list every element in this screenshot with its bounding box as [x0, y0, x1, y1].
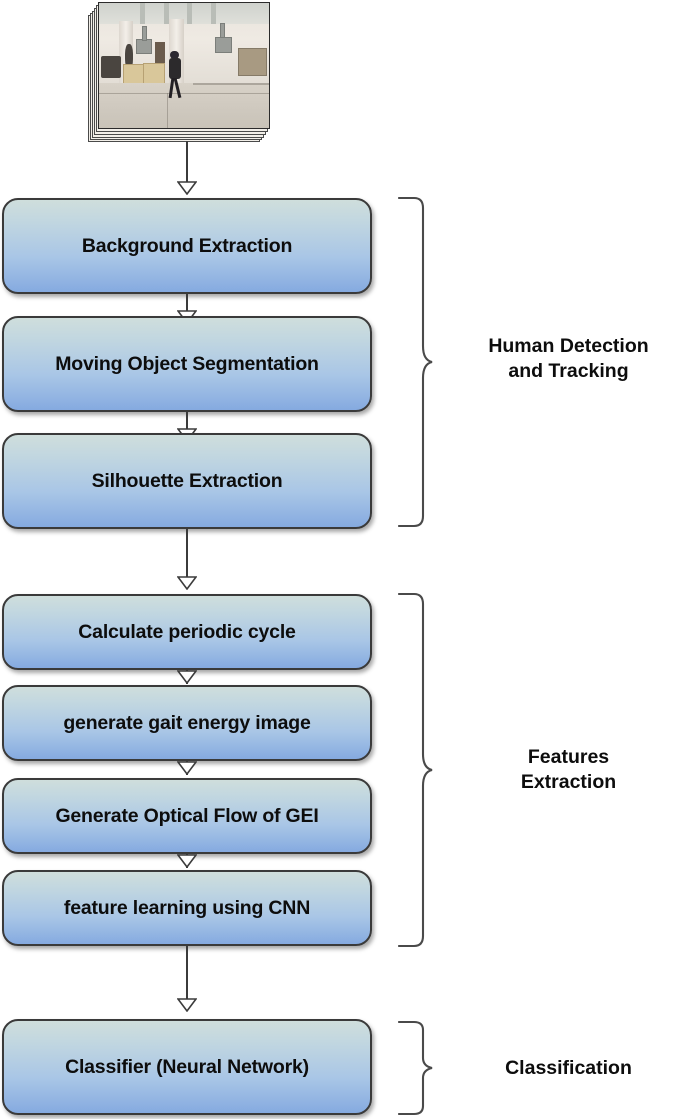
arrowhead-stage1-to-stage2 [177, 576, 197, 590]
group-label-features-extraction: Features Extraction [452, 745, 685, 796]
step-classifier-neural-network[interactable]: Classifier (Neural Network) [2, 1019, 372, 1115]
brace-classification [398, 1020, 434, 1116]
step-label: generate gait energy image [55, 712, 318, 734]
step-background-extraction[interactable]: Background Extraction [2, 198, 372, 294]
background-clutter [101, 56, 121, 79]
ceiling-beam-3 [187, 3, 192, 24]
connector-stage1-to-stage2 [186, 529, 188, 578]
scene-floor [99, 83, 269, 128]
arrowhead-step4-to-step5 [177, 670, 197, 684]
flowchart-canvas: Background Extraction Moving Object Segm… [0, 0, 685, 1119]
brace-features-extraction [398, 592, 434, 948]
video-frame-stack [88, 2, 270, 142]
ac-unit-left [136, 39, 151, 54]
arrowhead-stage2-to-stage3 [177, 998, 197, 1012]
step-feature-learning-using-cnn[interactable]: feature learning using CNN [2, 870, 372, 946]
connector-source-to-step1 [186, 141, 188, 183]
ceiling-beam-1 [140, 3, 145, 24]
step-label: Calculate periodic cycle [70, 621, 303, 643]
step-label: Moving Object Segmentation [47, 353, 327, 375]
step-label: Classifier (Neural Network) [57, 1056, 317, 1078]
brace-human-detection-and-tracking [398, 196, 434, 528]
step-silhouette-extraction[interactable]: Silhouette Extraction [2, 433, 372, 529]
step-label: Background Extraction [74, 235, 300, 257]
ac-unit-right [215, 37, 232, 53]
pipe-right [220, 23, 225, 38]
arrowhead-step5-to-step6 [177, 761, 197, 775]
step-calculate-periodic-cycle[interactable]: Calculate periodic cycle [2, 594, 372, 670]
step-generate-gait-energy-image[interactable]: generate gait energy image [2, 685, 372, 761]
arrowhead-source-to-step1 [177, 181, 197, 195]
corridor-scene-image [99, 3, 269, 128]
step-label: feature learning using CNN [56, 897, 318, 919]
step-label: Silhouette Extraction [84, 470, 291, 492]
arrowhead-step6-to-step7 [177, 854, 197, 868]
floor-line-edge [193, 83, 270, 85]
connector-stage2-to-stage3 [186, 946, 188, 1000]
ceiling-beam-4 [211, 3, 216, 24]
floor-line-horizontal [99, 93, 269, 94]
frame-sheet-front [98, 2, 270, 129]
group-label-human-detection-and-tracking: Human Detection and Tracking [452, 334, 685, 385]
floor-line-diagonal [167, 93, 168, 128]
step-label: Generate Optical Flow of GEI [47, 805, 326, 827]
group-label-classification: Classification [452, 1056, 685, 1081]
step-generate-optical-flow-of-gei[interactable]: Generate Optical Flow of GEI [2, 778, 372, 854]
window-grid [238, 48, 267, 76]
step-moving-object-segmentation[interactable]: Moving Object Segmentation [2, 316, 372, 412]
walking-person-torso [169, 58, 181, 79]
pipe-left [142, 26, 147, 41]
